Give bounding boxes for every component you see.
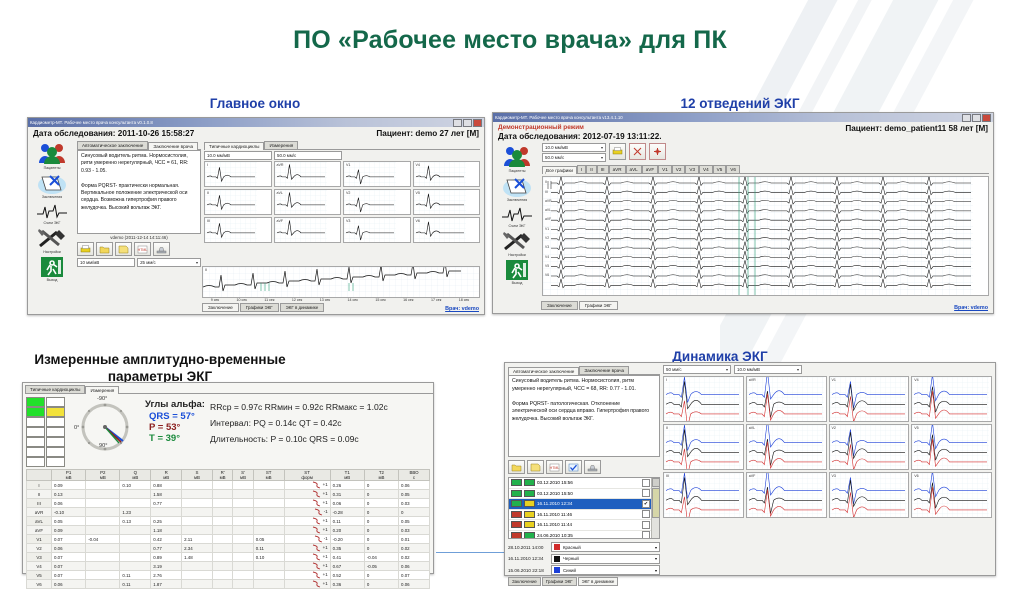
- color-swatch: [554, 567, 560, 573]
- cell-S: [182, 490, 213, 499]
- cell-VVO: 0: [399, 508, 430, 517]
- table-col-header: [27, 470, 52, 481]
- angle-qrs: QRS = 57°: [149, 411, 205, 422]
- doctor-link-12[interactable]: Врач: vdemo: [954, 305, 988, 311]
- note-button[interactable]: [115, 242, 132, 256]
- cell-VVO: 0.05: [399, 517, 430, 526]
- sidebar-item-exit[interactable]: Выход: [31, 257, 73, 282]
- cell-lead: III: [27, 499, 52, 508]
- print-icon: [80, 245, 91, 254]
- tab-typical-cycles[interactable]: Типичные кардиоциклы: [204, 142, 264, 151]
- interval-line: Интервал: PQ = 0.14с QT = 0.42с: [210, 416, 388, 432]
- cell-R: [151, 508, 182, 517]
- sidebar-item-patients-12[interactable]: Пациенты: [496, 146, 538, 173]
- lead-color-legend: [26, 397, 65, 467]
- gain-field[interactable]: 10 мм/мВ: [77, 258, 135, 267]
- cell-T1: 0.67: [330, 562, 364, 571]
- ecg-waveform: [912, 377, 989, 421]
- table-col-header: R'мВ: [212, 470, 232, 481]
- folder-icon: [99, 245, 110, 254]
- twelve-lead-sidebar[interactable]: Пациенты Заключения Съем ЭКГ: [495, 143, 539, 296]
- ecg-cell[interactable]: V6: [911, 472, 992, 518]
- lead-tab[interactable]: aVF: [642, 165, 658, 174]
- rhythm-strip[interactable]: II 9 сек10 сек11 сек12 сек13 сек14 сек15…: [202, 266, 478, 296]
- ecg-cell[interactable]: V1: [343, 161, 411, 187]
- twelve-lead-waveforms: [543, 177, 973, 295]
- note-button-d[interactable]: [527, 460, 544, 474]
- dynamics-speed-value: 50 мм/с: [666, 367, 682, 372]
- color-assign-row[interactable]: 15.06.2010 22:18 Синий ▾: [508, 565, 660, 575]
- table-row[interactable]: II0.131.58 +10.3100.05: [27, 490, 430, 499]
- cell-Rp: [212, 526, 232, 535]
- time-tick: 13 сек: [320, 298, 330, 302]
- ecg-cell[interactable]: aVL: [274, 189, 342, 215]
- dynamics-ecg-grid[interactable]: I aVR V1: [663, 376, 992, 518]
- record-checkbox[interactable]: ✔: [642, 500, 650, 508]
- color-select[interactable]: Красный ▾: [551, 542, 660, 552]
- st-shape-icon: [314, 508, 323, 516]
- ecg-cell[interactable]: aVF: [746, 472, 827, 518]
- color-assign-date: 28.10.2011 14:00: [508, 545, 548, 550]
- print-button-12[interactable]: [609, 143, 626, 160]
- cell-P1: 0.09: [52, 526, 86, 535]
- st-shape-icon: [312, 517, 321, 525]
- sidebar-item-ecg-12[interactable]: Съем ЭКГ: [496, 205, 538, 228]
- ecg-cell[interactable]: III: [663, 472, 744, 518]
- check-button-d[interactable]: [565, 460, 582, 474]
- gain-combo-12[interactable]: 10.0 мм/мВ ▾: [542, 143, 606, 152]
- cell-lead: aVF: [27, 526, 52, 535]
- cell-ST: [253, 526, 284, 535]
- tab-typical-cycles-m[interactable]: Типичные кардиоциклы: [25, 385, 85, 394]
- color-name: Красный: [563, 545, 581, 550]
- cell-VVO: 0.01: [399, 535, 430, 544]
- scale-gain-field[interactable]: 10.0 мм/мВ: [204, 151, 272, 160]
- st-shape-icon: [312, 481, 321, 489]
- ecg-cell[interactable]: aVR: [274, 161, 342, 187]
- tab-doctor-conclusion[interactable]: Заключение врача: [148, 142, 198, 151]
- table-row[interactable]: V60.060.111.87 +10.3600.06: [27, 580, 430, 589]
- sidebar-item-settings-12[interactable]: Настройки: [496, 231, 538, 258]
- lead-tab[interactable]: V6: [726, 165, 740, 174]
- st-shape-icon: [312, 526, 321, 534]
- lead-tab[interactable]: I: [577, 165, 586, 174]
- dynamics-tabs[interactable]: Автоматическое заключение Заключение вра…: [508, 365, 660, 375]
- cell-ST: [253, 481, 284, 490]
- table-row[interactable]: V10.07-0.040.422.110.05 -1-0.2000.01: [27, 535, 430, 544]
- table-row[interactable]: III0.060.77 +10.0600.03: [27, 499, 430, 508]
- cell-T2: 0: [364, 544, 398, 553]
- maximize-icon[interactable]: [972, 114, 981, 122]
- connector-line: [436, 552, 506, 553]
- sidebar-label-conclusions: Заключения: [42, 195, 62, 199]
- sidebar-item-ecg[interactable]: Съем ЭКГ: [31, 202, 73, 225]
- lead-row-label: aVF: [545, 215, 552, 224]
- ecg-cell[interactable]: aVL: [746, 424, 827, 470]
- minimize-icon[interactable]: [962, 114, 971, 122]
- cell-VVO: 0.03: [399, 499, 430, 508]
- dynamics-gain-combo[interactable]: 10.0 мм/мВ ▾: [734, 365, 802, 374]
- ecg-waveform: [664, 473, 741, 517]
- folder-button-d[interactable]: [508, 460, 525, 474]
- main-window[interactable]: Кардиометр-МТ. Рабочее место врача консу…: [27, 117, 485, 315]
- ecg-waveform: [747, 377, 824, 421]
- conclusion-text[interactable]: Синусовый водитель ритма. Нормосистолия,…: [77, 150, 201, 234]
- st-shape-icon: [312, 490, 321, 498]
- record-color-2: [524, 490, 535, 497]
- dynamics-panel[interactable]: Автоматическое заключение Заключение вра…: [504, 362, 996, 576]
- ecg-cell[interactable]: II: [663, 424, 744, 470]
- time-tick: 15 сек: [375, 298, 385, 302]
- alpha-label: Углы альфа:: [145, 399, 205, 410]
- dial-label-zero: 0°: [74, 425, 79, 431]
- cell-T2: 0: [364, 526, 398, 535]
- lead-tab[interactable]: V3: [685, 165, 699, 174]
- ecg-cell[interactable]: V4: [413, 161, 481, 187]
- table-row[interactable]: aVF0.091.18 +10.2000.03: [27, 526, 430, 535]
- measurements-table[interactable]: P1мВP2мВQмВRмВSмВR'мВS'мВSTмВSTформT1мВT…: [26, 469, 430, 589]
- st-shape-icon: [314, 535, 323, 543]
- main-window-titlebar[interactable]: Кардиометр-МТ. Рабочее место врача консу…: [28, 118, 484, 127]
- ecg-waveform: [344, 190, 396, 214]
- tab-doctor-conclusion-d[interactable]: Заключение врача: [579, 366, 629, 375]
- ecg-cell[interactable]: V2: [829, 424, 910, 470]
- cell-Q: [120, 499, 151, 508]
- maximize-icon[interactable]: [463, 119, 472, 127]
- cell-st-form: +1: [284, 490, 330, 499]
- ecg-lead-label: V2: [832, 426, 836, 430]
- speed-combo-12[interactable]: 50.0 мм/с ▾: [542, 153, 606, 162]
- ecg-cell[interactable]: V5: [413, 189, 481, 215]
- record-checkbox[interactable]: [642, 489, 650, 497]
- cell-Rp: [212, 553, 232, 562]
- ecg-cell[interactable]: V5: [911, 424, 992, 470]
- ecg-cell[interactable]: III: [204, 217, 272, 243]
- gain-combo-12-value: 10.0 мм/мВ: [545, 145, 568, 150]
- twelve-lead-window[interactable]: Кардиометр-МТ. Рабочее место врача консу…: [492, 112, 994, 314]
- cell-lead: aVL: [27, 517, 52, 526]
- close-icon[interactable]: [473, 119, 482, 127]
- cell-Q: [120, 490, 151, 499]
- html-export-button[interactable]: HTML: [134, 242, 151, 256]
- cell-ST: 0.05: [253, 535, 284, 544]
- dynamics-speed-combo[interactable]: 50 мм/с ▾: [663, 365, 731, 374]
- cell-S: 1.48: [182, 553, 213, 562]
- table-col-header: T1мВ: [330, 470, 364, 481]
- cell-lead: I: [27, 481, 52, 490]
- cell-T2: -0.04: [364, 553, 398, 562]
- main-bottom-tabs[interactable]: ЗаключениеГрафики ЭКГЭКГ в динамике: [202, 303, 324, 312]
- measurements-tabs[interactable]: Типичные кардиоциклы Измерения: [25, 384, 433, 394]
- record-row[interactable]: 16.11.2010 11:44: [509, 520, 652, 531]
- cell-P2: [86, 580, 120, 589]
- ecg-lead-label: III: [666, 474, 669, 478]
- cell-ST: [253, 580, 284, 589]
- lead-tab[interactable]: III: [597, 165, 609, 174]
- lead-row-label: V4: [545, 253, 552, 262]
- patients-icon: [37, 143, 67, 165]
- ecg-tabs[interactable]: Типичные кардиоциклы Измерения: [204, 140, 480, 150]
- color-select[interactable]: Черный ▾: [551, 554, 660, 564]
- cell-P2: [86, 490, 120, 499]
- lead-tab[interactable]: aVL: [626, 165, 642, 174]
- ecg-waveform: [912, 473, 989, 517]
- lead-tab[interactable]: II: [586, 165, 597, 174]
- lead-row-label: V2: [545, 234, 552, 243]
- ecg-lead-label: II: [666, 426, 668, 430]
- bottom-tab[interactable]: Графики ЭКГ: [240, 303, 279, 312]
- record-color-1: [511, 511, 522, 518]
- table-row[interactable]: V30.070.891.480.10 +10.41-0.040.02: [27, 553, 430, 562]
- tab-measurements-m[interactable]: Измерения: [85, 386, 119, 395]
- conclusion-icon: [37, 173, 67, 195]
- window-controls-12[interactable]: [962, 114, 991, 122]
- tools-icon: [37, 228, 67, 250]
- open-folder-button[interactable]: [96, 242, 113, 256]
- time-tick: 17 сек: [431, 298, 441, 302]
- sidebar-item-patients[interactable]: Пациенты: [31, 143, 73, 170]
- table-col-header: ВВОс: [399, 470, 430, 481]
- sidebar-item-conclusions[interactable]: Заключения: [31, 173, 73, 200]
- tab-auto-conclusion[interactable]: Автоматическое заключение: [77, 141, 148, 150]
- ecg-cell[interactable]: V2: [343, 189, 411, 215]
- records-list[interactable]: 03.12.2010 15:56 03.12.2010 15:50 16.11.…: [508, 477, 660, 539]
- color-swatch: [554, 544, 560, 550]
- st-shape-icon: [312, 544, 321, 552]
- scroll-thumb[interactable]: [652, 488, 660, 518]
- color-assignments[interactable]: 28.10.2011 14:00 Красный ▾ 16.11.2010 12…: [508, 542, 660, 575]
- table-row[interactable]: aVR-0.101.23 -1-0.2800: [27, 508, 430, 517]
- ecg-waveform: [344, 218, 396, 242]
- ecg-cell[interactable]: V3: [343, 217, 411, 243]
- cell-lead: V3: [27, 553, 52, 562]
- lead-tabs[interactable]: Все графикиIIIIIIaVRaVLaVFV1V2V3V4V5V6: [542, 164, 989, 174]
- lead-tab[interactable]: V5: [713, 165, 727, 174]
- table-row[interactable]: V50.070.112.76 +10.5200.07: [27, 571, 430, 580]
- record-checkbox[interactable]: [642, 510, 650, 518]
- cell-S: [182, 580, 213, 589]
- st-shape-icon: [312, 499, 321, 507]
- cell-R: 0.42: [151, 535, 182, 544]
- cell-Rp: [212, 562, 232, 571]
- main-sidebar[interactable]: Пациенты Заключения Съем ЭКГ: [30, 140, 74, 282]
- time-tick: 16 сек: [403, 298, 413, 302]
- record-checkbox[interactable]: [642, 479, 650, 487]
- cell-S: [182, 571, 213, 580]
- chevron-down-icon: ▾: [655, 556, 657, 561]
- record-date: 03.12.2010 15:50: [537, 491, 573, 496]
- chevron-down-icon: ▾: [655, 545, 657, 550]
- cell-VVO: 0.02: [399, 544, 430, 553]
- cell-st-form: +1: [284, 481, 330, 490]
- table-row[interactable]: I0.090.100.88 +10.2600.06: [27, 481, 430, 490]
- table-col-header: P1мВ: [52, 470, 86, 481]
- folder-icon: [511, 463, 522, 472]
- cell-VVO: 0.06: [399, 562, 430, 571]
- cell-P1: 0.07: [52, 553, 86, 562]
- ecg-wave-icon: [502, 205, 532, 223]
- lead-tab[interactable]: V1: [658, 165, 672, 174]
- ecg-cell[interactable]: I: [663, 376, 744, 422]
- lead-row-label: aVR: [545, 197, 552, 206]
- cell-Sp: [233, 562, 253, 571]
- twelve-lead-bottom-tabs[interactable]: ЗаключениеГрафики ЭКГ: [541, 301, 618, 310]
- bottom-tab[interactable]: Заключение: [202, 303, 239, 312]
- cell-Q: [120, 535, 151, 544]
- ecg-cell[interactable]: aVR: [746, 376, 827, 422]
- minimize-icon[interactable]: [453, 119, 462, 127]
- speed-combo[interactable]: 25 мм/с ▾: [137, 258, 201, 267]
- html-button-d[interactable]: HTML: [546, 460, 563, 474]
- twelve-lead-chart[interactable]: [542, 176, 989, 296]
- rhythm-strip-lead: II: [205, 268, 207, 272]
- record-color-1: [511, 500, 522, 507]
- table-col-header: T2мВ: [364, 470, 398, 481]
- ecg-cell[interactable]: V1: [829, 376, 910, 422]
- scissors-button[interactable]: [629, 143, 646, 160]
- cell-lead: V5: [27, 571, 52, 580]
- cell-st-form: +1: [284, 499, 330, 508]
- ecg-waveform: [747, 473, 824, 517]
- record-row[interactable]: 03.12.2010 15:50: [509, 489, 652, 500]
- cell-st-form: +1: [284, 544, 330, 553]
- record-checkbox[interactable]: [642, 521, 650, 529]
- record-checkbox[interactable]: [642, 531, 650, 539]
- table-row[interactable]: V40.073.19 +10.67-0.050.06: [27, 562, 430, 571]
- sidebar-item-settings[interactable]: Настройки: [31, 228, 73, 255]
- scroll-up-arrow[interactable]: [652, 478, 660, 487]
- cell-R: 3.19: [151, 562, 182, 571]
- crosshair-button[interactable]: [649, 143, 666, 160]
- cell-ST: 0.10: [253, 553, 284, 562]
- bottom-tab[interactable]: ЭКГ в динамике: [578, 577, 619, 586]
- ecg-wave-icon: [37, 202, 67, 220]
- ecg-cell[interactable]: V4: [911, 376, 992, 422]
- cell-S: [182, 508, 213, 517]
- ecg-cell[interactable]: II: [204, 189, 272, 215]
- demo-mode-badge: Демонстрационный режим: [498, 124, 662, 131]
- cell-P1: -0.10: [52, 508, 86, 517]
- main-toolbar[interactable]: HTML: [77, 242, 201, 256]
- table-header-row: P1мВP2мВQмВRмВSмВR'мВS'мВSTмВSTформT1мВT…: [27, 470, 430, 481]
- twelve-lead-titlebar[interactable]: Кардиометр-МТ. Рабочее место врача консу…: [493, 113, 993, 122]
- stamp-button-d[interactable]: [584, 460, 601, 474]
- cell-P1: 0.13: [52, 490, 86, 499]
- color-assign-row[interactable]: 16.11.2010 12:34 Черный ▾: [508, 554, 660, 564]
- ecg-cell[interactable]: V6: [413, 217, 481, 243]
- cell-lead: V1: [27, 535, 52, 544]
- close-icon[interactable]: [982, 114, 991, 122]
- measurements-panel[interactable]: Типичные кардиоциклы Измерения: [22, 382, 434, 574]
- dynamics-conclusion-text[interactable]: Синусовый водитель ритма. Нормосистолия,…: [508, 375, 660, 457]
- ecg-cell[interactable]: aVF: [274, 217, 342, 243]
- ecg-cell[interactable]: V3: [829, 472, 910, 518]
- bottom-tab[interactable]: ЭКГ в динамике: [280, 303, 325, 312]
- dynamics-gain-value: 10.0 мм/мВ: [737, 367, 760, 372]
- record-row[interactable]: 16.11.2010 11:46: [509, 510, 652, 521]
- print-button[interactable]: [77, 242, 94, 256]
- ecg-cell[interactable]: I: [204, 161, 272, 187]
- cell-Sp: [233, 490, 253, 499]
- tab-auto-conclusion-d[interactable]: Автоматическое заключение: [508, 367, 579, 376]
- time-tick: 9 сек: [211, 298, 219, 302]
- doctor-link[interactable]: Врач: vdemo: [445, 306, 479, 312]
- table-row[interactable]: V20.060.772.340.11 +10.3500.02: [27, 544, 430, 553]
- conclusion-panel: Автоматическое заключение Заключение вра…: [77, 140, 201, 282]
- ecg-waveform: [664, 377, 741, 421]
- cell-R: 0.89: [151, 553, 182, 562]
- bottom-tab[interactable]: Графики ЭКГ: [579, 301, 618, 310]
- cell-P1: 0.05: [52, 517, 86, 526]
- main-window-header: Дата обследования: 2011-10-26 15:58:27 П…: [28, 127, 484, 138]
- cell-R: 2.76: [151, 571, 182, 580]
- cell-ST: [253, 517, 284, 526]
- sidebar-item-exit-12[interactable]: Выход: [496, 260, 538, 285]
- ecg-waveform: [912, 425, 989, 469]
- record-color-1: [511, 490, 522, 497]
- lead-tab[interactable]: aVR: [609, 165, 626, 174]
- ecg-lead-label: V5: [914, 426, 918, 430]
- sidebar-item-conclusions-12[interactable]: Заключения: [496, 176, 538, 203]
- cell-lead: V4: [27, 562, 52, 571]
- dynamics-bottom-tabs[interactable]: ЗаключениеГрафики ЭКГЭКГ в динамике: [508, 577, 660, 586]
- ecg-lead-label: aVL: [277, 191, 283, 195]
- cell-R: 1.18: [151, 526, 182, 535]
- window-controls[interactable]: [453, 119, 482, 127]
- lead-tab[interactable]: V4: [699, 165, 713, 174]
- record-date: 16.11.2010 12:34: [537, 501, 572, 506]
- record-row[interactable]: 03.12.2010 15:56: [509, 478, 652, 489]
- record-row[interactable]: 16.11.2010 12:34 ✔: [509, 499, 652, 510]
- table-col-header: S'мВ: [233, 470, 253, 481]
- cell-P2: [86, 571, 120, 580]
- record-row[interactable]: 24.06.2010 10:35: [509, 531, 652, 540]
- conclusion-signature: vdemo (2011-12-14 14:11:46): [77, 235, 201, 240]
- ecg-waveform: [664, 425, 741, 469]
- time-axis: 9 сек10 сек11 сек12 сек13 сек14 сек15 се…: [202, 298, 478, 302]
- scale-speed-field[interactable]: 50.0 мм/с: [274, 151, 342, 160]
- cell-VVO: 0.06: [399, 580, 430, 589]
- lead-tab[interactable]: V2: [672, 165, 686, 174]
- stamp-icon: [587, 463, 598, 472]
- cell-ST: [253, 490, 284, 499]
- cell-Rp: [212, 490, 232, 499]
- bottom-tab[interactable]: Заключение: [508, 577, 541, 586]
- tab-measurements[interactable]: Измерения: [264, 141, 298, 150]
- cell-Q: 1.23: [120, 508, 151, 517]
- cell-T2: 0: [364, 580, 398, 589]
- color-assign-date: 15.06.2010 22:18: [508, 568, 548, 573]
- table-row[interactable]: aVL0.050.130.25 +10.1100.05: [27, 517, 430, 526]
- color-assign-row[interactable]: 28.10.2011 14:00 Красный ▾: [508, 542, 660, 552]
- cell-Sp: [233, 517, 253, 526]
- ecg-lead-label: aVR: [277, 163, 284, 167]
- dynamics-toolbar[interactable]: HTML: [508, 460, 660, 474]
- record-color-2: [524, 479, 535, 486]
- stamp-button[interactable]: [153, 242, 170, 256]
- cell-P2: [86, 481, 120, 490]
- bottom-tab[interactable]: Заключение: [541, 301, 578, 310]
- cell-Q: [120, 526, 151, 535]
- color-select[interactable]: Синий ▾: [551, 565, 660, 575]
- ecg-cycle-grid[interactable]: I aVR V1: [204, 161, 480, 243]
- cell-S: [182, 499, 213, 508]
- bottom-tab[interactable]: Графики ЭКГ: [542, 577, 577, 586]
- conclusion-tabs[interactable]: Автоматическое заключение Заключение вра…: [77, 140, 201, 150]
- cell-Rp: [212, 580, 232, 589]
- cell-S: [182, 481, 213, 490]
- records-scrollbar[interactable]: [651, 478, 659, 538]
